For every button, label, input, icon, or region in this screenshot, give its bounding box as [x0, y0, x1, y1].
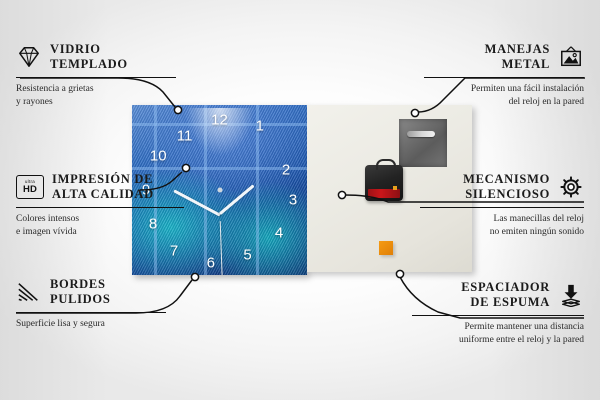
battery-terminal: [393, 186, 397, 190]
battery: [368, 189, 400, 198]
feature-divider: [420, 207, 584, 209]
feature-header: BORDES PULIDOS: [16, 277, 166, 308]
clock-pattern-line: [132, 167, 307, 170]
clock-numeral-6: 6: [207, 255, 215, 272]
feature-title: IMPRESIÓN DE ALTA CALIDAD: [52, 172, 154, 203]
clock-hour-hand: [218, 184, 254, 215]
framed-picture-hook-icon: [558, 45, 584, 69]
feature-subtitle: Superficie lisa y segura: [16, 318, 166, 331]
clock-numeral-3: 3: [289, 192, 297, 209]
ultra-hd-large-label: HD: [23, 185, 37, 195]
ultra-hd-icon: ultra HD: [16, 175, 44, 199]
feature-title: ESPACIADOR DE ESPUMA: [461, 280, 550, 311]
feature-divider: [16, 312, 166, 314]
feature-title: MANEJAS METAL: [485, 42, 550, 73]
feature-title: MECANISMO SILENCIOSO: [463, 172, 550, 203]
feature-subtitle: Permite mantener una distancia uniforme …: [412, 321, 584, 347]
metal-hanger-plate: [399, 119, 447, 167]
clock-numeral-1: 1: [256, 118, 264, 135]
feature-espaciador-espuma[interactable]: ESPACIADOR DE ESPUMA Permite mantener un…: [412, 280, 584, 347]
foam-spacer: [379, 241, 393, 255]
clock-mechanism: [365, 165, 403, 201]
feature-bordes-pulidos[interactable]: BORDES PULIDOS Superficie lisa y segura: [16, 277, 166, 331]
feature-subtitle: Las manecillas del reloj no emiten ningú…: [420, 213, 584, 239]
feature-title: BORDES PULIDOS: [50, 277, 110, 308]
feature-vidrio-templado[interactable]: VIDRIO TEMPLADO Resistencia a grietas y …: [16, 42, 176, 109]
foam-spacer-arrow-icon: [558, 283, 584, 307]
infographic-canvas: 12 1 2 3 4 5 6 7 8 9 10 11: [0, 0, 600, 400]
feature-subtitle: Resistencia a grietas y rayones: [16, 83, 176, 109]
clock-second-hand: [219, 221, 223, 275]
feature-divider: [16, 207, 184, 209]
feature-header: MANEJAS METAL: [424, 42, 584, 73]
feature-mecanismo-silencioso[interactable]: MECANISMO SILENCIOSO Las manecillas del …: [420, 172, 584, 239]
polished-edges-icon: [16, 280, 42, 304]
feature-title: VIDRIO TEMPLADO: [50, 42, 128, 73]
clock-numeral-10: 10: [150, 148, 167, 165]
clock-numeral-5: 5: [243, 246, 251, 263]
clock-numeral-2: 2: [282, 161, 290, 178]
feature-header: ESPACIADOR DE ESPUMA: [412, 280, 584, 311]
mechanism-hook: [376, 159, 396, 170]
feature-divider: [424, 77, 584, 79]
clock-numeral-7: 7: [170, 243, 178, 260]
feature-header: ultra HD IMPRESIÓN DE ALTA CALIDAD: [16, 172, 184, 203]
feature-header: MECANISMO SILENCIOSO: [420, 172, 584, 203]
gear-icon: [558, 175, 584, 199]
feature-divider: [412, 315, 584, 317]
hanger-slot: [407, 131, 435, 137]
feature-divider: [16, 77, 176, 79]
clock-numeral-11: 11: [177, 127, 193, 144]
diamond-icon: [16, 45, 42, 69]
feature-manejas-metal[interactable]: MANEJAS METAL Permiten una fácil instala…: [424, 42, 584, 109]
clock-numeral-12: 12: [211, 112, 228, 129]
feature-impresion-alta-calidad[interactable]: ultra HD IMPRESIÓN DE ALTA CALIDAD Color…: [16, 172, 184, 239]
feature-subtitle: Permiten una fácil instalación del reloj…: [424, 83, 584, 109]
feature-subtitle: Colores intensos e imagen vívida: [16, 213, 184, 239]
clock-center-pin: [217, 188, 222, 193]
feature-header: VIDRIO TEMPLADO: [16, 42, 176, 73]
clock-numeral-4: 4: [275, 224, 283, 241]
